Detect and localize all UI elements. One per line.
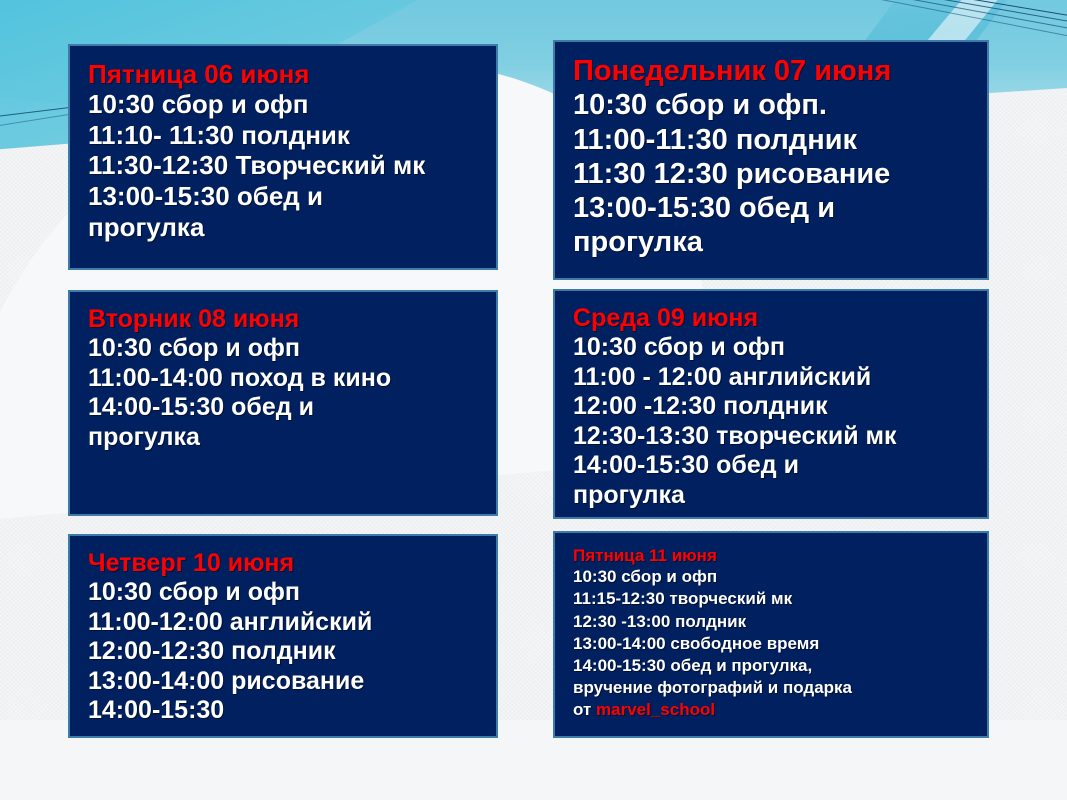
card-line: вручение фотографий и подарка <box>573 677 971 699</box>
card-line: 11:00-12:00 английский <box>88 608 480 638</box>
card-line: 11:30 12:30 рисование <box>573 157 971 191</box>
card-line: 14:00-15:30 <box>88 696 480 726</box>
card-line: прогулка <box>88 212 480 243</box>
card-line: 12:30-13:30 творческий мк <box>573 422 971 452</box>
card-title: Пятница 11 июня <box>573 547 971 565</box>
schedule-card-tuesday-08: Вторник 08 июня 10:30 сбор и офп 11:00-1… <box>68 290 498 516</box>
card-line: 10:30 сбор и офп <box>573 566 971 588</box>
schedule-card-friday-06: Пятница 06 июня 10:30 сбор и офп 11:10- … <box>68 44 498 270</box>
card-line: 11:15-12:30 творческий мк <box>573 588 971 610</box>
card-title: Понедельник 07 июня <box>573 56 971 87</box>
card-line: 14:00-15:30 обед и прогулка, <box>573 655 971 677</box>
card-line: 12:00-12:30 полдник <box>88 637 480 667</box>
card-line: прогулка <box>88 423 480 453</box>
card-line: 13:00-15:30 обед и <box>573 191 971 225</box>
card-line: 10:30 сбор и офп <box>88 578 480 608</box>
card-line: 12:30 -13:00 полдник <box>573 611 971 633</box>
card-line: 13:00-14:00 свободное время <box>573 633 971 655</box>
card-line: прогулка <box>573 225 971 259</box>
card-line: 14:00-15:30 обед и <box>573 451 971 481</box>
card-line: 10:30 сбор и офп <box>573 333 971 363</box>
card-line: 14:00-15:30 обед и <box>88 393 480 423</box>
card-line: 10:30 сбор и офп <box>88 334 480 364</box>
card-line: 13:00-14:00 рисование <box>88 667 480 697</box>
card-line: 10:30 сбор и офп. <box>573 88 971 122</box>
card-line: 11:00-14:00 поход в кино <box>88 364 480 394</box>
card-line: 11:00-11:30 полдник <box>573 123 971 157</box>
credit-prefix: от <box>573 700 596 719</box>
slide-canvas: Пятница 06 июня 10:30 сбор и офп 11:10- … <box>0 0 1067 800</box>
card-line: 11:30-12:30 Творческий мк <box>88 150 480 181</box>
card-line: 12:00 -12:30 полдник <box>573 392 971 422</box>
card-line: прогулка <box>573 481 971 511</box>
card-line: 10:30 сбор и офп <box>88 89 480 120</box>
card-title: Среда 09 июня <box>573 305 971 332</box>
card-title: Пятница 06 июня <box>88 60 480 88</box>
schedule-card-friday-11: Пятница 11 июня 10:30 сбор и офп 11:15-1… <box>553 531 989 738</box>
schedule-card-wednesday-09: Среда 09 июня 10:30 сбор и офп 11:00 - 1… <box>553 289 989 519</box>
schedule-card-monday-07: Понедельник 07 июня 10:30 сбор и офп. 11… <box>553 40 989 280</box>
schedule-card-grid: Пятница 06 июня 10:30 сбор и офп 11:10- … <box>0 0 1067 800</box>
schedule-card-thursday-10: Четверг 10 июня 10:30 сбор и офп 11:00-1… <box>68 534 498 738</box>
credit-account-handle: marvel_school <box>596 700 715 719</box>
card-line: 13:00-15:30 обед и <box>88 181 480 212</box>
card-line: 11:10- 11:30 полдник <box>88 120 480 151</box>
card-title: Вторник 08 июня <box>88 306 480 333</box>
card-line-credit: от marvel_school <box>573 699 971 721</box>
card-line: 11:00 - 12:00 английский <box>573 363 971 393</box>
card-title: Четверг 10 июня <box>88 550 480 577</box>
